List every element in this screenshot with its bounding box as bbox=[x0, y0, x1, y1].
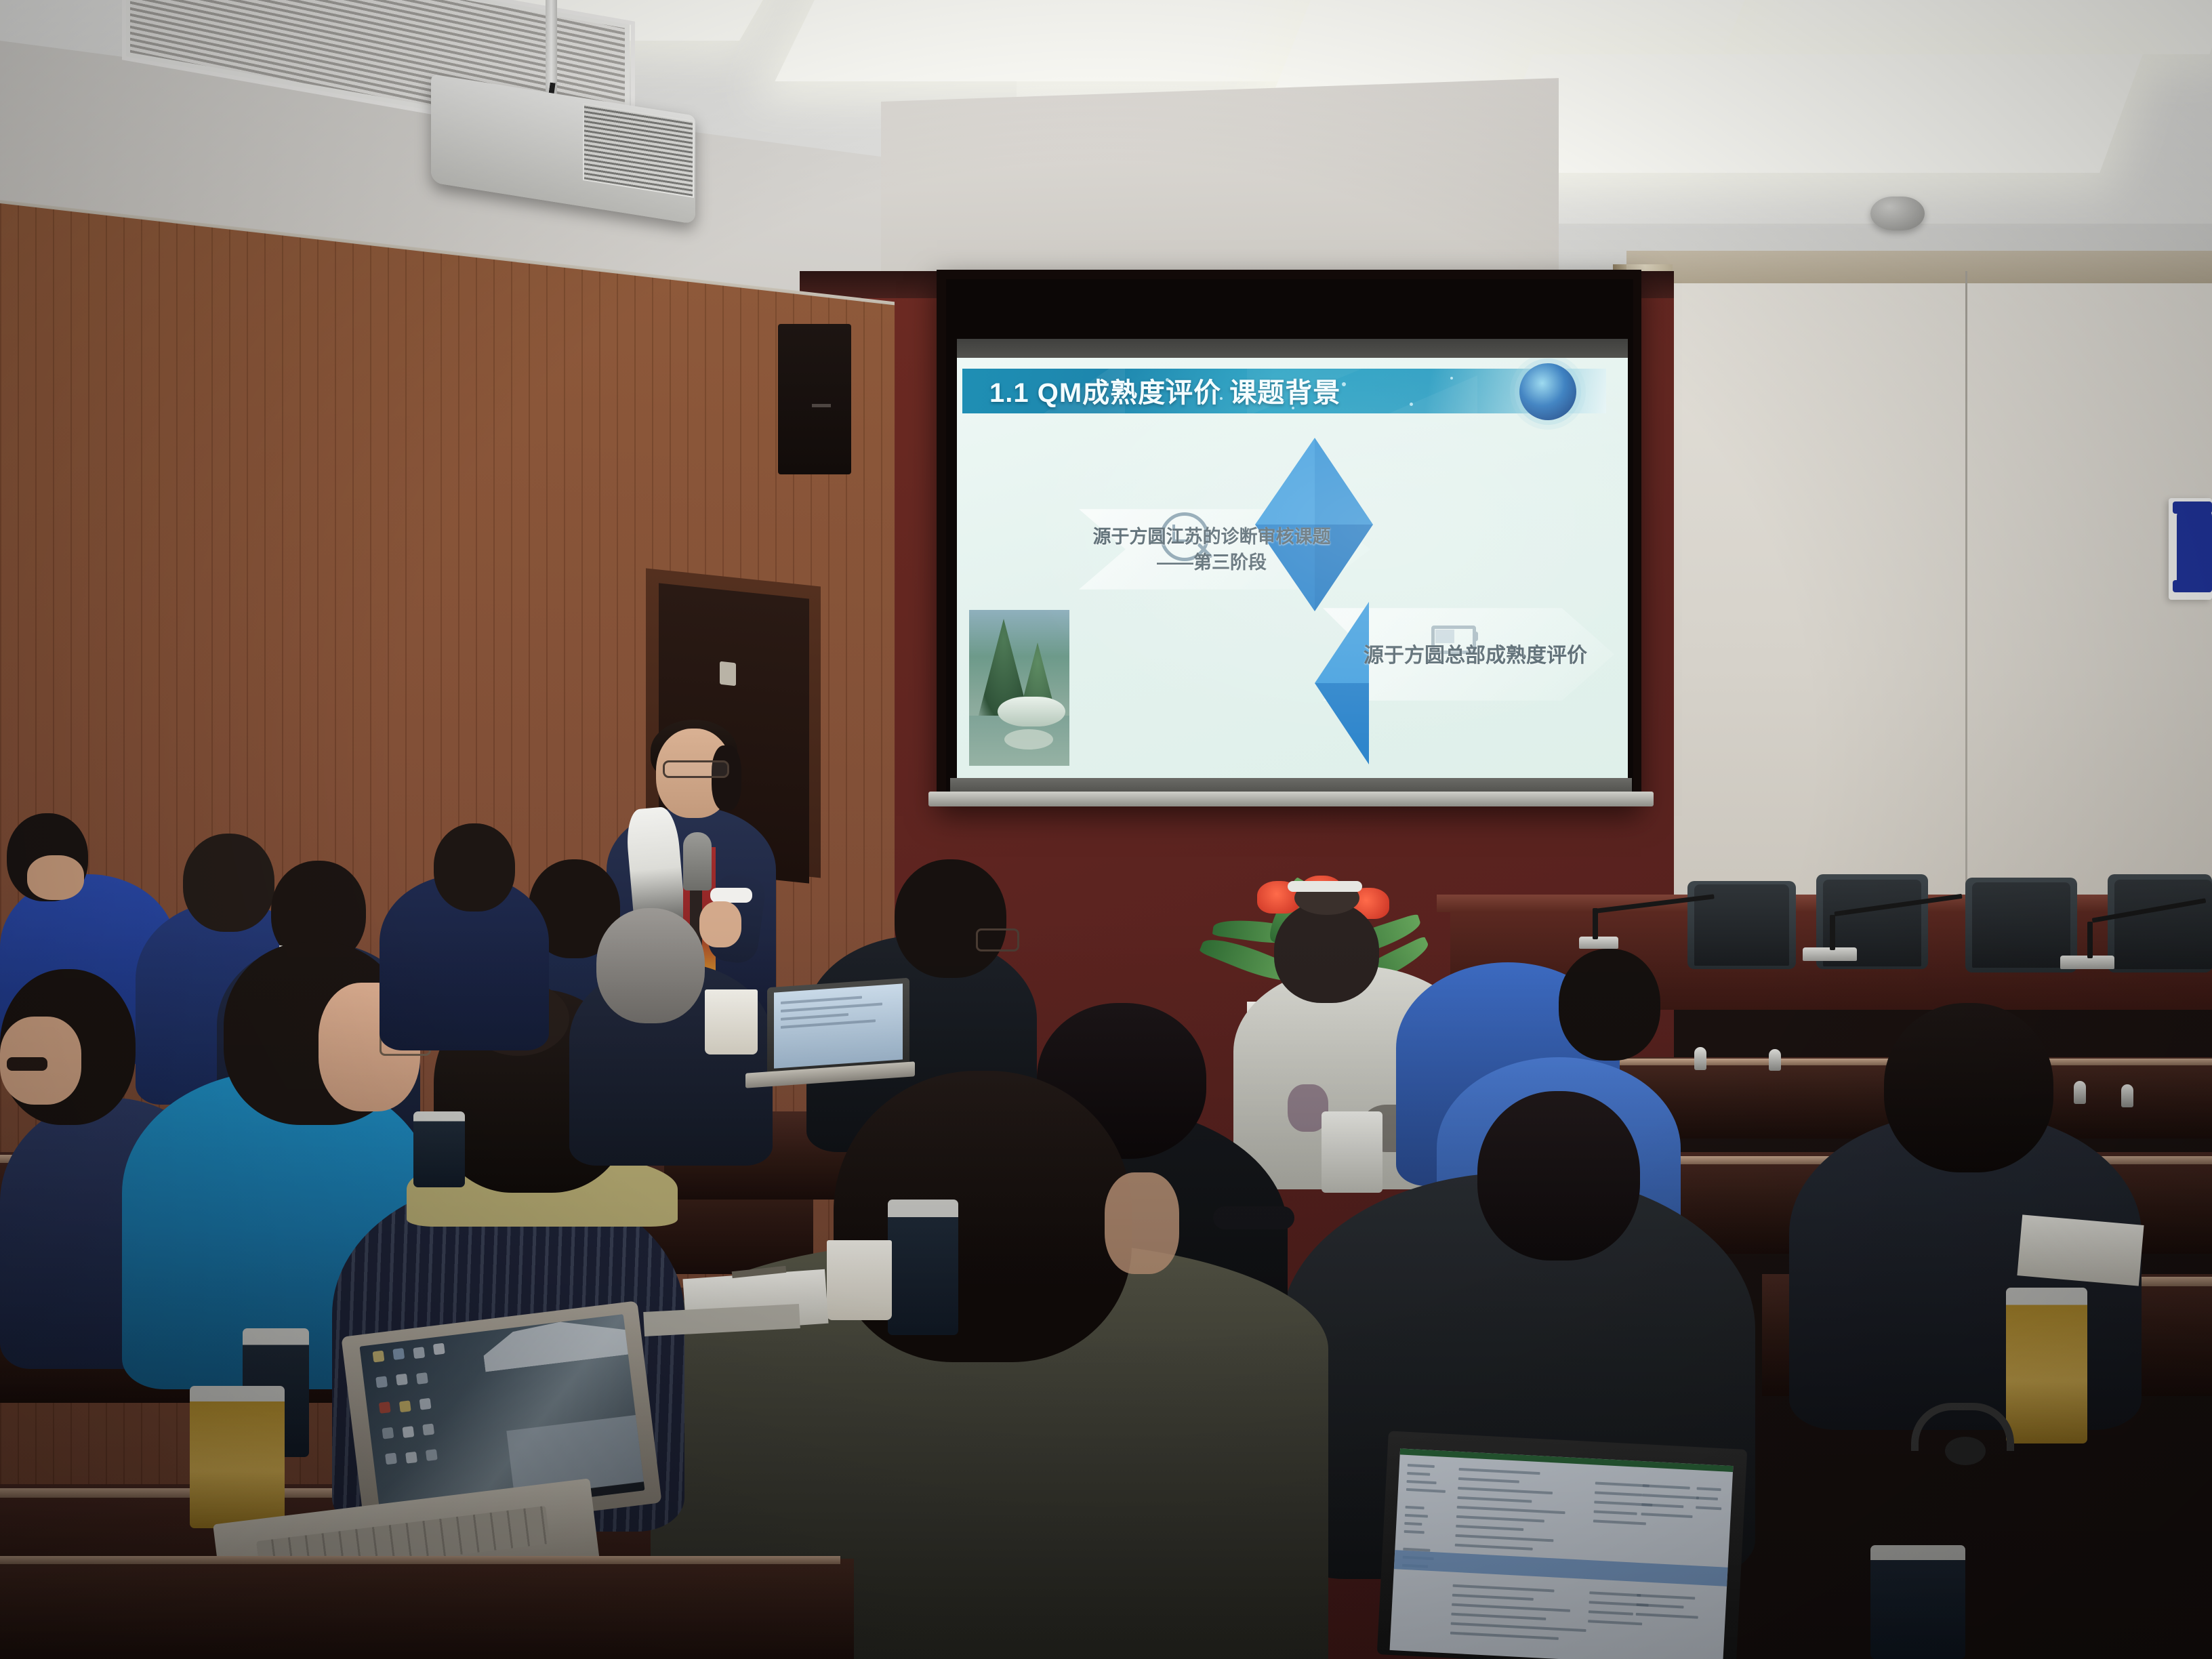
slide-title: 1.1 QM成熟度评价 课题背景 bbox=[989, 377, 1532, 409]
audience-person-head bbox=[1884, 1003, 2053, 1172]
thermos-flask-amber[interactable] bbox=[2006, 1288, 2087, 1443]
photo-rock bbox=[1004, 729, 1053, 750]
projection-screen-roller bbox=[928, 792, 1654, 806]
desktop-icon[interactable] bbox=[405, 1452, 417, 1464]
blue-arrow-shape bbox=[1315, 683, 1369, 764]
water-bottle[interactable] bbox=[1322, 1111, 1382, 1193]
ceiling-light-panel bbox=[775, 0, 1339, 81]
thermos-flask[interactable] bbox=[413, 1111, 465, 1187]
slide-text-left-line1: 源于方圆江苏的诊断审核课题 bbox=[1069, 524, 1354, 550]
audience-person-head-grey bbox=[596, 908, 705, 1023]
microphone-base bbox=[1579, 937, 1618, 949]
desktop-icon[interactable] bbox=[399, 1400, 411, 1412]
desktop-icon[interactable] bbox=[375, 1376, 388, 1388]
right-wall-panel bbox=[1626, 258, 2212, 935]
desktop-icon[interactable] bbox=[419, 1398, 432, 1410]
desktop-icon[interactable] bbox=[396, 1374, 408, 1386]
desktop-icon[interactable] bbox=[379, 1401, 391, 1414]
eyeglasses-on-desk[interactable] bbox=[1213, 1206, 1294, 1229]
paper-document[interactable] bbox=[2017, 1214, 2144, 1286]
headphone-earcup[interactable] bbox=[1945, 1437, 1986, 1465]
laptop-screen[interactable] bbox=[1390, 1448, 1734, 1659]
audience-person-head bbox=[434, 823, 515, 912]
audience-person-head bbox=[895, 859, 1006, 978]
gooseneck-microphone[interactable] bbox=[1830, 915, 1835, 950]
desk-post bbox=[1694, 1047, 1706, 1070]
front-desk-edge bbox=[0, 1559, 854, 1659]
audience-person-head bbox=[1477, 1091, 1640, 1261]
handheld-microphone[interactable] bbox=[683, 832, 712, 890]
blue-sign-bottom-bar bbox=[2173, 580, 2212, 592]
presenter-shirt-cuff bbox=[710, 888, 752, 903]
right-wall-trim bbox=[1626, 251, 2212, 283]
desktop-icon[interactable] bbox=[402, 1426, 414, 1438]
projection-screen-top-strip bbox=[957, 339, 1628, 359]
audience-person-eye bbox=[7, 1057, 47, 1071]
conference-chair-seat[interactable] bbox=[1972, 882, 2070, 968]
gooseneck-microphone[interactable] bbox=[2087, 922, 2093, 958]
blue-sign-glyph-icon bbox=[2177, 507, 2212, 591]
desk-post bbox=[2074, 1081, 2086, 1104]
smoke-detector-icon bbox=[1870, 197, 1925, 230]
desktop-icon[interactable] bbox=[392, 1348, 405, 1360]
battery-cap bbox=[1473, 632, 1478, 641]
presenter-hair-side bbox=[712, 745, 741, 811]
selected-row-highlight[interactable] bbox=[1394, 1550, 1728, 1586]
ceiling-light-panel bbox=[1490, 54, 2143, 173]
desk-post bbox=[1769, 1049, 1781, 1071]
audience-person-face bbox=[27, 855, 84, 900]
audience-person-head bbox=[1559, 949, 1660, 1061]
hair-clip bbox=[1288, 881, 1362, 892]
conference-chair-seat[interactable] bbox=[2114, 880, 2212, 969]
presentation-slide: 1.1 QM成熟度评价 课题背景 源于方圆江苏的诊断审核课题 ——第三阶段 源于… bbox=[957, 358, 1628, 778]
audience-person-ear bbox=[1105, 1172, 1179, 1274]
paper-cup[interactable] bbox=[827, 1240, 892, 1320]
battery-fill bbox=[1435, 630, 1454, 643]
thermos-flask[interactable] bbox=[1870, 1545, 1965, 1659]
wall-speaker bbox=[778, 324, 851, 474]
desktop-icon[interactable] bbox=[413, 1347, 425, 1359]
desktop-icon[interactable] bbox=[385, 1453, 397, 1465]
door-handle[interactable] bbox=[720, 661, 736, 687]
presenter-hand bbox=[699, 901, 741, 947]
blue-arrow-shape bbox=[1315, 438, 1373, 525]
desktop-icon[interactable] bbox=[382, 1427, 394, 1439]
paper-cup[interactable] bbox=[705, 989, 758, 1054]
audience-person-head-bun bbox=[1274, 901, 1379, 1003]
desktop-icon[interactable] bbox=[433, 1343, 445, 1355]
wall-speaker-highlight bbox=[812, 404, 831, 407]
blue-arrow-shape bbox=[1255, 438, 1315, 525]
slide-text-left-block: 源于方圆江苏的诊断审核课题 ——第三阶段 bbox=[1069, 524, 1354, 575]
laptop-screen[interactable] bbox=[774, 983, 903, 1068]
thermos-flask[interactable] bbox=[888, 1200, 958, 1335]
slide-text-left-line2: ——第三阶段 bbox=[1069, 550, 1354, 575]
desktop-icon[interactable] bbox=[422, 1423, 434, 1435]
desktop-icon[interactable] bbox=[416, 1372, 428, 1385]
audience-person-head bbox=[183, 834, 274, 932]
projection-screen: 1.1 QM成熟度评价 课题背景 源于方圆江苏的诊断审核课题 ——第三阶段 源于… bbox=[957, 358, 1628, 778]
audience-glasses bbox=[976, 928, 1019, 951]
wall-panel-seam bbox=[1965, 271, 1967, 935]
desktop-icon[interactable] bbox=[373, 1351, 385, 1363]
front-desk-highlight bbox=[0, 1556, 840, 1564]
photo-rock bbox=[998, 697, 1065, 726]
slide-text-right: 源于方圆总部成熟度评价 bbox=[1336, 642, 1614, 670]
conference-room-scene: 1.1 QM成熟度评价 课题背景 源于方圆江苏的诊断审核课题 ——第三阶段 源于… bbox=[0, 0, 2212, 1659]
presenter-glasses bbox=[663, 760, 729, 778]
ceiling-light-panel bbox=[1708, 0, 2212, 54]
desk-post bbox=[2121, 1084, 2133, 1107]
desktop-icon[interactable] bbox=[426, 1449, 438, 1461]
